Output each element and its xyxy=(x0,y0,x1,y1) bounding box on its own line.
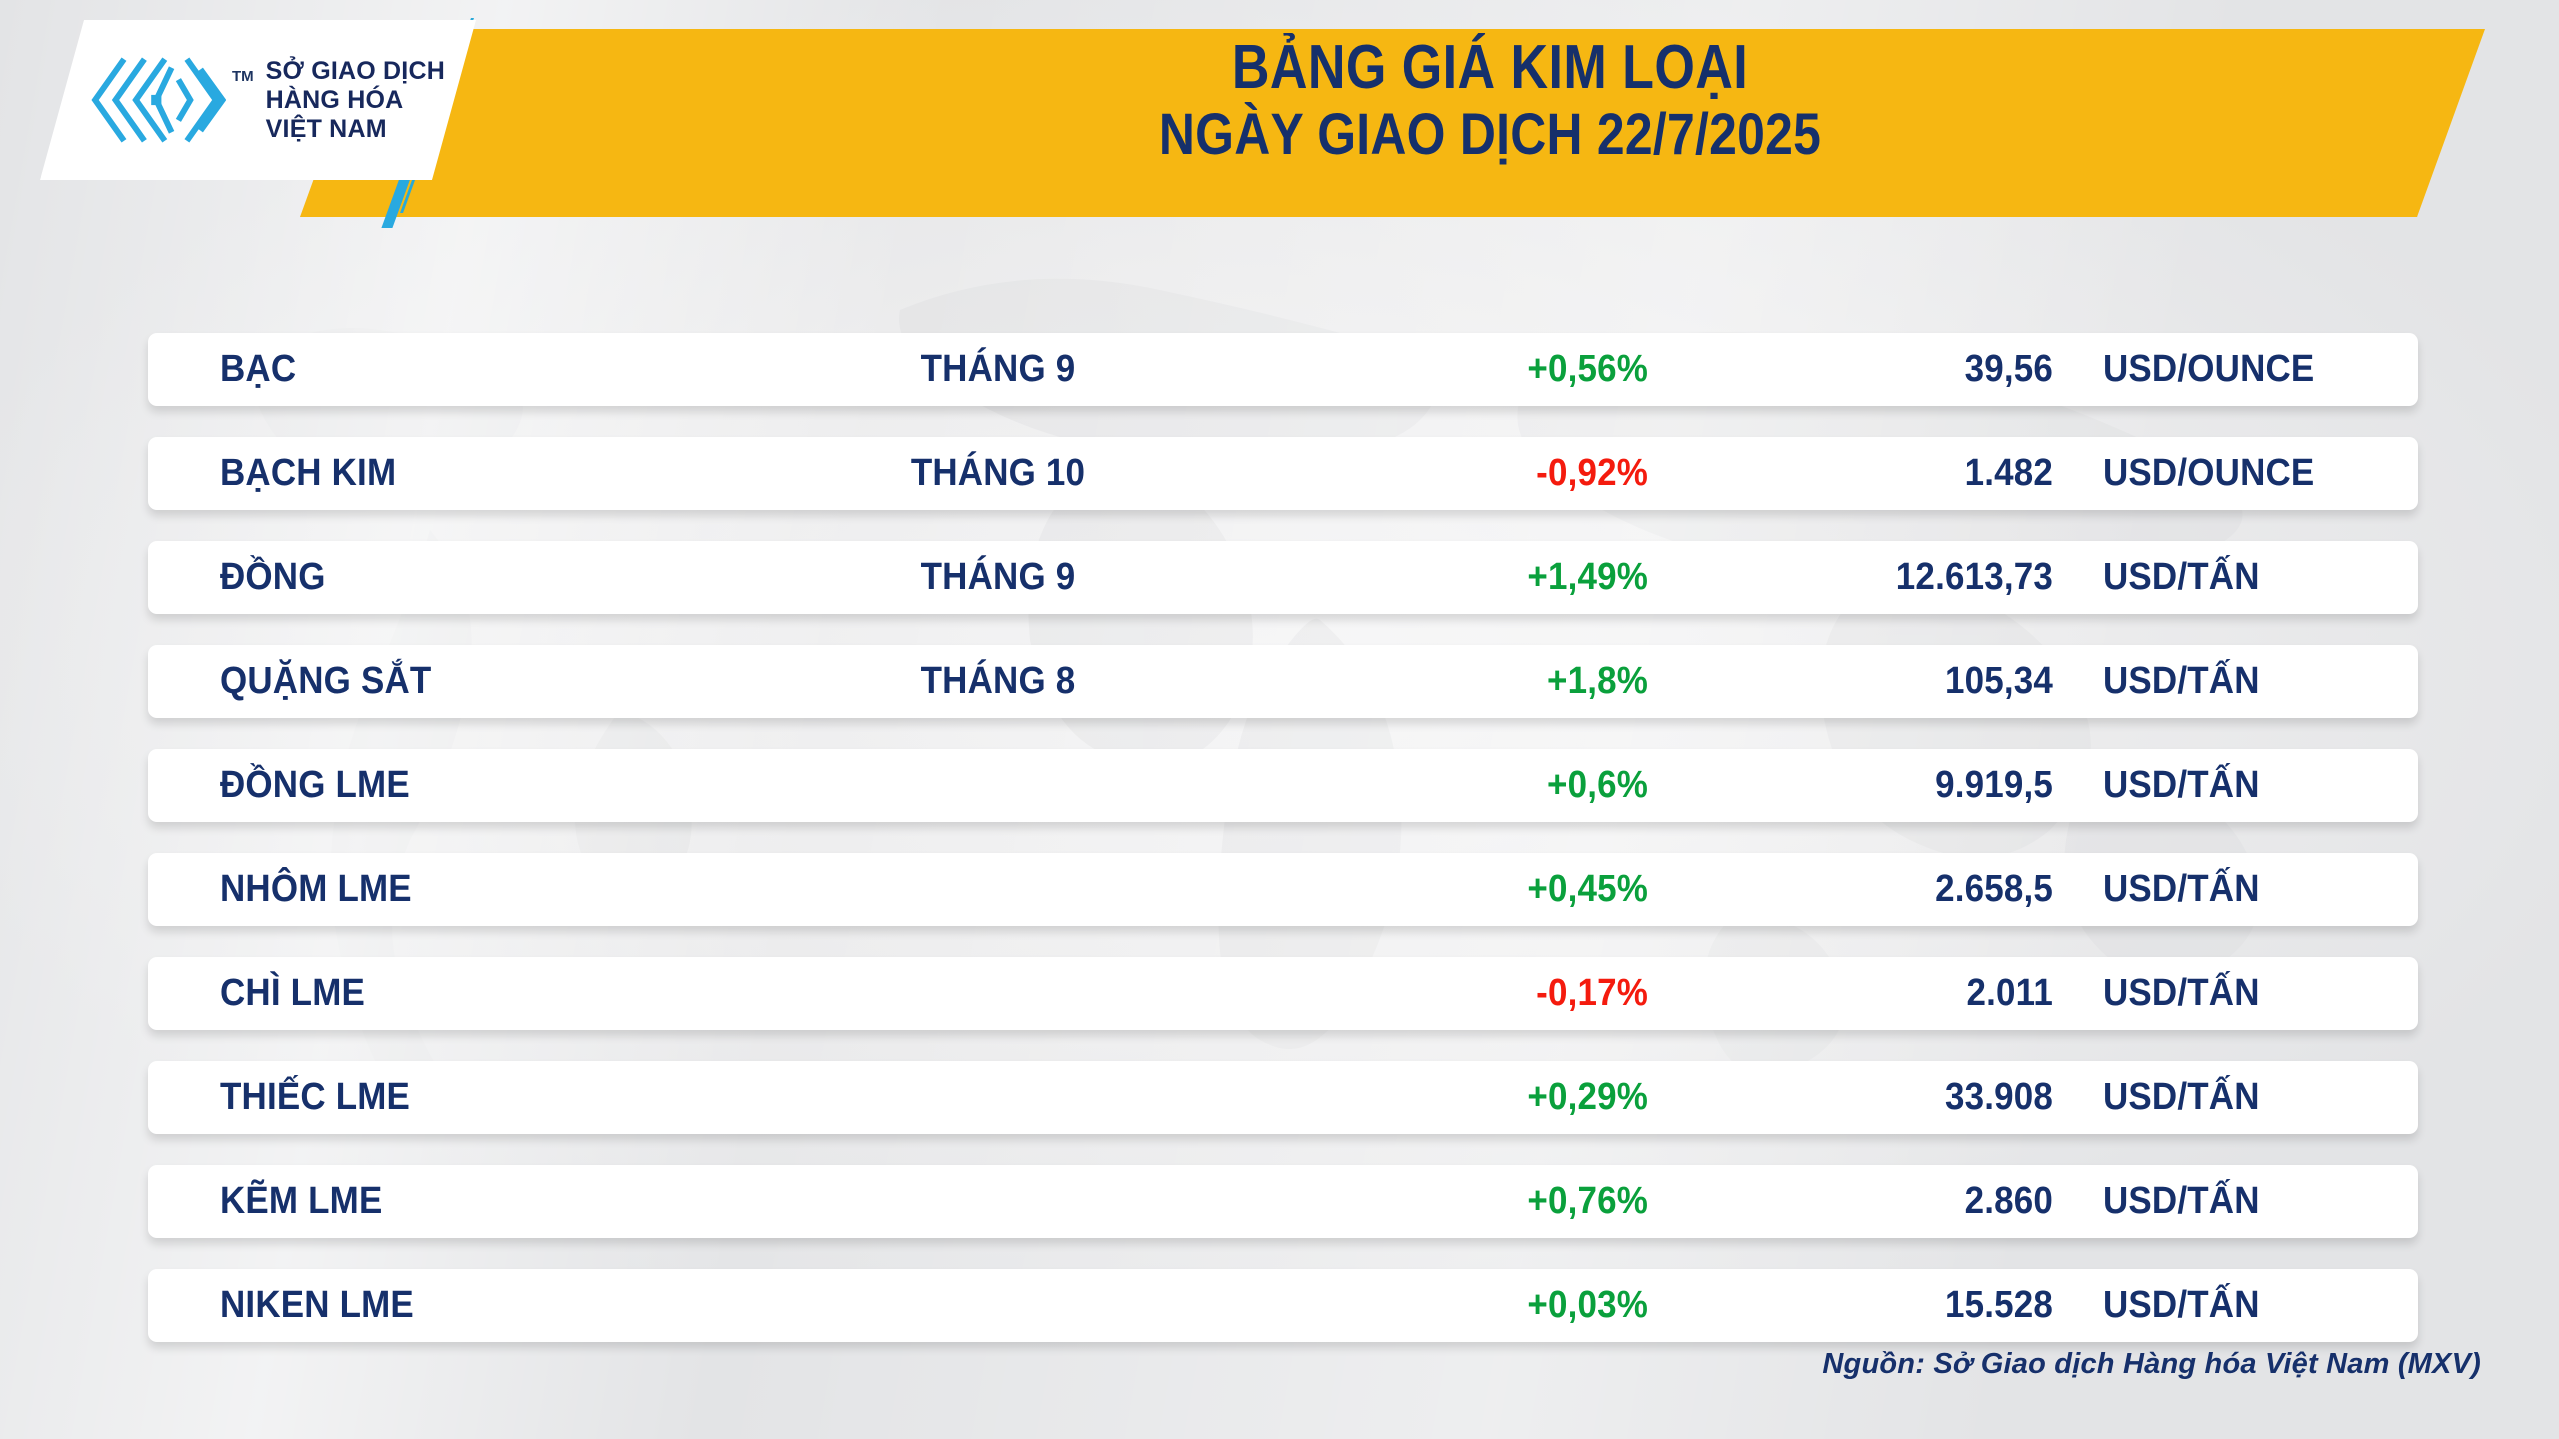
change-percent: +1,49% xyxy=(1317,556,1648,599)
logo-line-2: HÀNG HÓA xyxy=(266,86,445,115)
price-value: 39,56 xyxy=(1708,348,2053,391)
infographic-canvas: BẢNG GIÁ KIM LOẠI NGÀY GIAO DỊCH 22/7/20… xyxy=(0,0,2559,1439)
commodity-name: ĐỒNG LME xyxy=(220,764,410,807)
header: BẢNG GIÁ KIM LOẠI NGÀY GIAO DỊCH 22/7/20… xyxy=(0,0,2559,232)
table-row[interactable]: ĐỒNGTHÁNG 9+1,49%12.613,73USD/TẤN xyxy=(148,541,2418,614)
change-percent: +0,03% xyxy=(1317,1284,1648,1327)
mxv-zigzag-logo-icon xyxy=(90,54,226,146)
price-value: 15.528 xyxy=(1708,1284,2053,1327)
price-value: 9.919,5 xyxy=(1708,764,2053,807)
price-unit: USD/TẤN xyxy=(2103,764,2260,807)
page-title: BẢNG GIÁ KIM LOẠI xyxy=(793,36,2187,99)
commodity-name: CHÌ LME xyxy=(220,972,365,1015)
price-value: 2.658,5 xyxy=(1708,868,2053,911)
price-value: 2.011 xyxy=(1708,972,2053,1015)
commodity-name: THIẾC LME xyxy=(220,1076,410,1119)
logo-line-3: VIỆT NAM xyxy=(266,115,445,144)
commodity-name: BẠCH KIM xyxy=(220,452,396,495)
commodity-name: NIKEN LME xyxy=(220,1284,414,1327)
price-unit: USD/TẤN xyxy=(2103,1180,2260,1223)
logo-inner: TM SỞ GIAO DỊCH HÀNG HÓA VIỆT NAM xyxy=(40,54,445,146)
table-row[interactable]: QUẶNG SẮTTHÁNG 8+1,8%105,34USD/TẤN xyxy=(148,645,2418,718)
price-unit: USD/TẤN xyxy=(2103,1076,2260,1119)
change-percent: +1,8% xyxy=(1317,660,1648,703)
logo-wordmark: SỞ GIAO DỊCH HÀNG HÓA VIỆT NAM xyxy=(266,57,445,144)
price-value: 12.613,73 xyxy=(1708,556,2053,599)
price-table: BẠCTHÁNG 9+0,56%39,56USD/OUNCEBẠCH KIMTH… xyxy=(148,333,2418,1373)
price-value: 33.908 xyxy=(1708,1076,2053,1119)
change-percent: +0,6% xyxy=(1317,764,1648,807)
commodity-name: ĐỒNG xyxy=(220,556,326,599)
change-percent: +0,56% xyxy=(1317,348,1648,391)
logo-line-1: SỞ GIAO DỊCH xyxy=(266,57,445,86)
contract-month: THÁNG 9 xyxy=(786,348,1209,391)
price-unit: USD/TẤN xyxy=(2103,972,2260,1015)
change-percent: +0,76% xyxy=(1317,1180,1648,1223)
trademark-mark: TM xyxy=(232,68,254,85)
contract-month: THÁNG 10 xyxy=(786,452,1209,495)
price-unit: USD/TẤN xyxy=(2103,660,2260,703)
title-block: BẢNG GIÁ KIM LOẠI NGÀY GIAO DỊCH 22/7/20… xyxy=(660,36,2320,164)
price-value: 1.482 xyxy=(1708,452,2053,495)
price-value: 105,34 xyxy=(1708,660,2053,703)
commodity-name: QUẶNG SẮT xyxy=(220,660,431,703)
price-unit: USD/TẤN xyxy=(2103,1284,2260,1327)
price-value: 2.860 xyxy=(1708,1180,2053,1223)
price-unit: USD/TẤN xyxy=(2103,868,2260,911)
source-note: Nguồn: Sở Giao dịch Hàng hóa Việt Nam (M… xyxy=(1822,1348,2481,1381)
change-percent: +0,45% xyxy=(1317,868,1648,911)
contract-month: THÁNG 9 xyxy=(786,556,1209,599)
change-percent: +0,29% xyxy=(1317,1076,1648,1119)
price-unit: USD/TẤN xyxy=(2103,556,2260,599)
table-row[interactable]: THIẾC LME+0,29%33.908USD/TẤN xyxy=(148,1061,2418,1134)
table-row[interactable]: BẠCTHÁNG 9+0,56%39,56USD/OUNCE xyxy=(148,333,2418,406)
commodity-name: BẠC xyxy=(220,348,296,391)
price-unit: USD/OUNCE xyxy=(2103,348,2314,391)
page-subtitle: NGÀY GIAO DỊCH 22/7/2025 xyxy=(776,105,2204,164)
table-row[interactable]: BẠCH KIMTHÁNG 10-0,92%1.482USD/OUNCE xyxy=(148,437,2418,510)
logo-card: TM SỞ GIAO DỊCH HÀNG HÓA VIỆT NAM xyxy=(40,20,476,180)
commodity-name: KẼM LME xyxy=(220,1180,382,1223)
change-percent: -0,17% xyxy=(1317,972,1648,1015)
table-row[interactable]: KẼM LME+0,76%2.860USD/TẤN xyxy=(148,1165,2418,1238)
table-row[interactable]: NHÔM LME+0,45%2.658,5USD/TẤN xyxy=(148,853,2418,926)
commodity-name: NHÔM LME xyxy=(220,868,412,911)
contract-month: THÁNG 8 xyxy=(786,660,1209,703)
change-percent: -0,92% xyxy=(1317,452,1648,495)
table-row[interactable]: NIKEN LME+0,03%15.528USD/TẤN xyxy=(148,1269,2418,1342)
table-row[interactable]: ĐỒNG LME+0,6%9.919,5USD/TẤN xyxy=(148,749,2418,822)
price-unit: USD/OUNCE xyxy=(2103,452,2314,495)
table-row[interactable]: CHÌ LME-0,17%2.011USD/TẤN xyxy=(148,957,2418,1030)
